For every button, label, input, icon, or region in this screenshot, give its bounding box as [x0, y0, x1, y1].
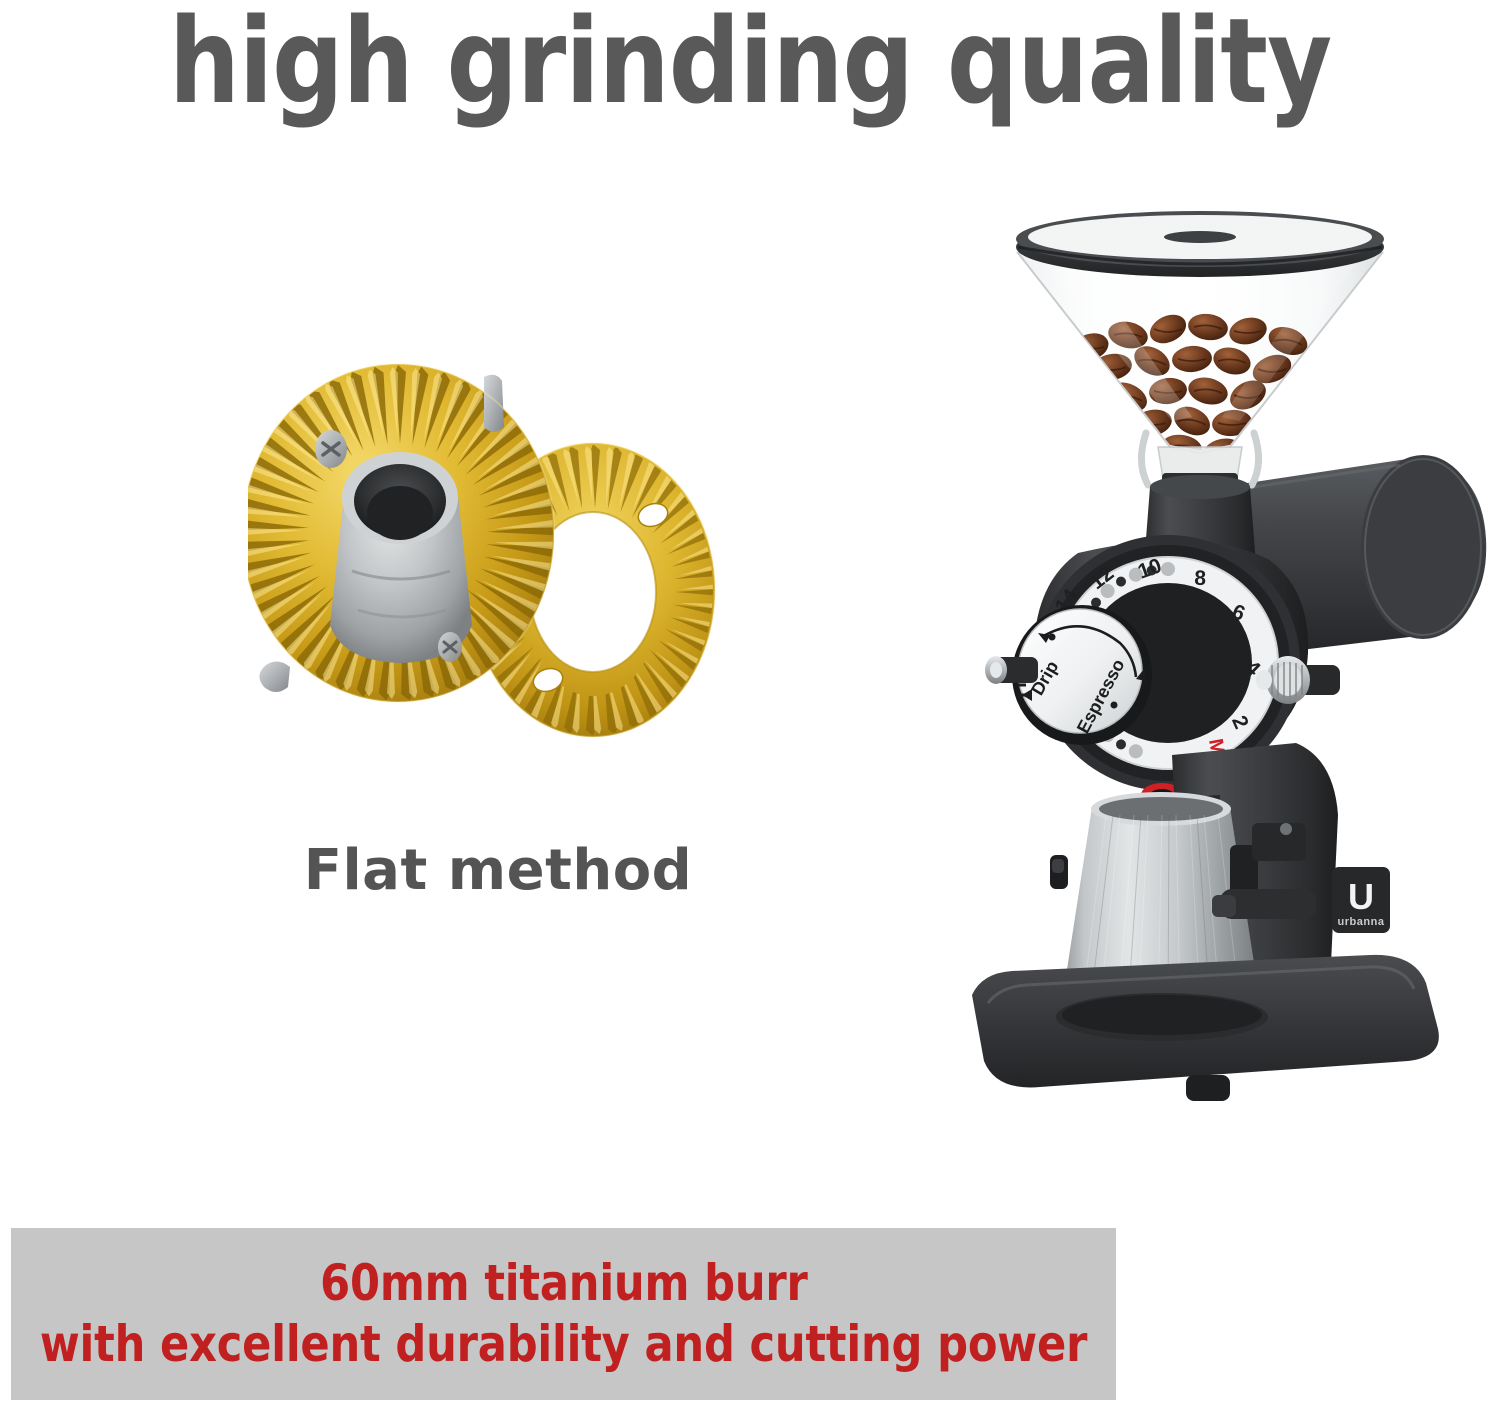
- power-switch[interactable]: [1050, 855, 1068, 889]
- burr-pin-bottom-left: [259, 661, 290, 692]
- grinder-base: [972, 955, 1439, 1101]
- dial-shaft-left: [985, 656, 1038, 684]
- brand-wordmark: urbanna: [1338, 916, 1385, 928]
- caption-line-2: with excellent durability and cutting po…: [40, 1314, 1087, 1375]
- flat-method-label: Flat method: [248, 838, 748, 903]
- brand-mark: U: [1348, 876, 1374, 917]
- coffee-grinder-figure: 14 12 10 8 6 4 2 Min Drip Espresso: [900, 195, 1500, 1115]
- dial-tick-8: 8: [1194, 567, 1207, 590]
- caption-line-1: 60mm titanium burr: [320, 1253, 807, 1314]
- burr-screw-top: [315, 430, 347, 468]
- flat-burr-illustration: [248, 355, 748, 790]
- flat-burr-figure: [248, 355, 748, 790]
- coffee-grinder-illustration: 14 12 10 8 6 4 2 Min Drip Espresso: [900, 195, 1500, 1115]
- burr-pin-top-right: [484, 375, 504, 432]
- burr-hub: [330, 452, 472, 663]
- feature-caption-band: 60mm titanium burr with excellent durabi…: [11, 1228, 1116, 1400]
- bean-hopper: [1016, 211, 1384, 492]
- burr-screw-bottom: [438, 632, 462, 662]
- brand-badge: U urbanna: [1332, 867, 1390, 933]
- page-title: high grinding quality: [45, 0, 1455, 131]
